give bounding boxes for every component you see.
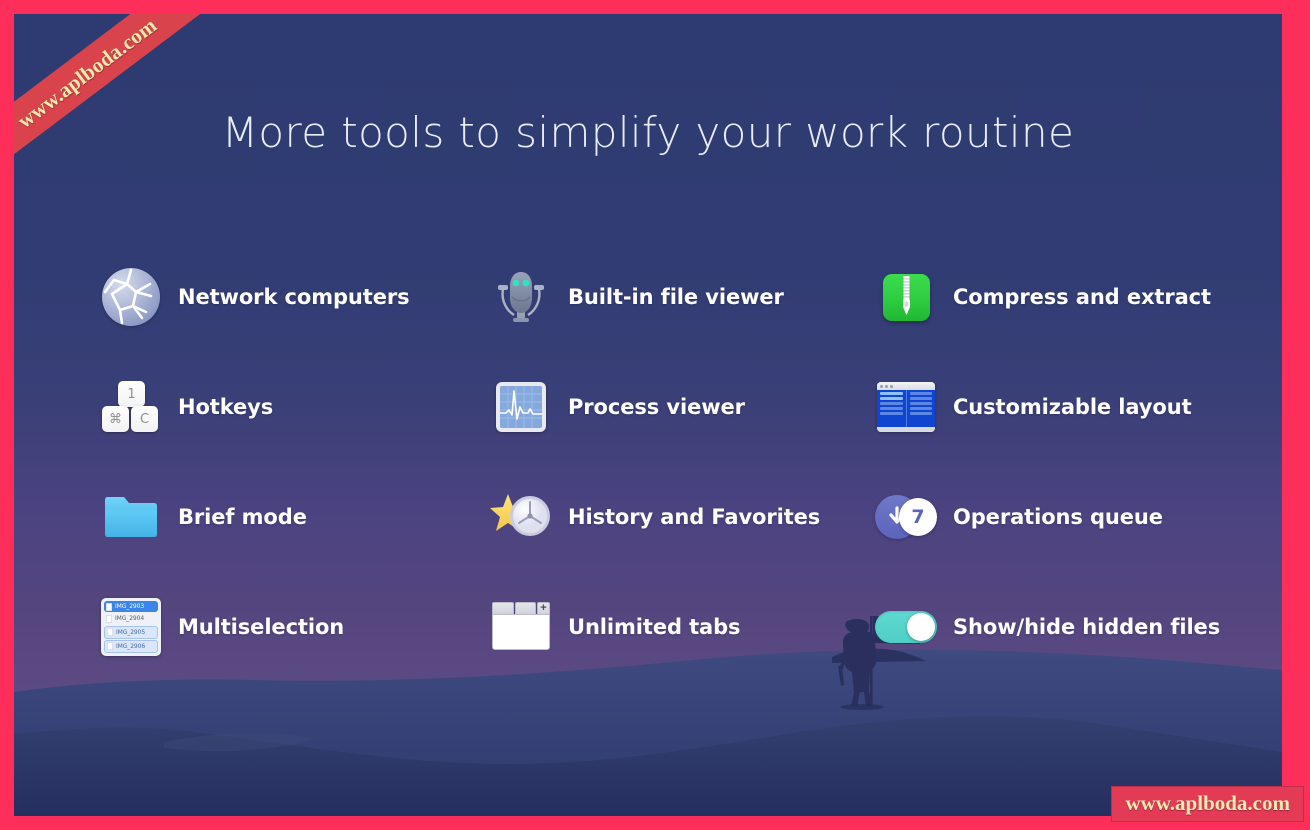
feature-built-in-file-viewer[interactable]: Built-in file viewer [490, 242, 875, 352]
file-row: IMG_2905 [104, 626, 158, 639]
feature-hotkeys[interactable]: 1 ⌘ C Hotkeys [100, 352, 490, 462]
slide-canvas: More tools to simplify your work routine [14, 14, 1282, 816]
feature-history-and-favorites[interactable]: History and Favorites [490, 462, 875, 572]
keyboard-keys-icon: 1 ⌘ C [100, 376, 162, 438]
activity-monitor-icon [490, 376, 552, 438]
feature-label: Brief mode [178, 505, 307, 529]
key-c: C [131, 406, 158, 432]
browser-tabs-icon: + [490, 596, 552, 658]
file-name: IMG_2905 [116, 629, 145, 636]
network-globe-icon [100, 266, 162, 328]
feature-customizable-layout[interactable]: Customizable layout [875, 352, 1260, 462]
download-queue-icon: 7 [875, 486, 937, 548]
file-row: IMG_2903 [104, 601, 158, 612]
pink-frame: More tools to simplify your work routine [0, 0, 1310, 830]
feature-label: Unlimited tabs [568, 615, 740, 639]
queue-count-badge: 7 [899, 498, 937, 536]
feature-label: Multiselection [178, 615, 344, 639]
feature-label: Network computers [178, 285, 410, 309]
file-row: IMG_2906 [104, 640, 158, 653]
feature-label: Compress and extract [953, 285, 1211, 309]
feature-label: History and Favorites [568, 505, 820, 529]
feature-label: Process viewer [568, 395, 745, 419]
page-title: More tools to simplify your work routine [14, 108, 1282, 157]
folder-icon [100, 486, 162, 548]
watermark-text: www.aplboda.com [1125, 791, 1290, 815]
file-name: IMG_2903 [115, 603, 144, 610]
star-clock-icon [490, 486, 552, 548]
file-name: IMG_2906 [116, 643, 145, 650]
bottom-watermark-badge: www.aplboda.com [1111, 786, 1304, 822]
feature-grid: Network computers [100, 242, 1260, 682]
corner-ribbon-watermark: www.aplboda.com [14, 14, 231, 189]
feature-operations-queue[interactable]: 7 Operations queue [875, 462, 1260, 572]
zip-archive-icon [875, 266, 937, 328]
new-tab-plus-icon: + [537, 602, 550, 614]
toggle-switch-icon[interactable] [875, 596, 937, 658]
feature-label: Operations queue [953, 505, 1163, 529]
feature-compress-and-extract[interactable]: Compress and extract [875, 242, 1260, 352]
feature-process-viewer[interactable]: Process viewer [490, 352, 875, 462]
feature-label: Show/hide hidden files [953, 615, 1220, 639]
tab-content-area [492, 614, 550, 650]
feature-unlimited-tabs[interactable]: + Unlimited tabs [490, 572, 875, 682]
feature-show-hide-hidden-files[interactable]: Show/hide hidden files [875, 572, 1260, 682]
file-row: IMG_2904 [104, 613, 158, 624]
tab-2 [515, 602, 537, 614]
file-viewer-goggles-icon [490, 266, 552, 328]
file-list-selection-icon: IMG_2903 IMG_2904 IMG_2905 IMG_2906 [100, 596, 162, 658]
file-manager-window-icon [875, 376, 937, 438]
tab-1 [492, 602, 514, 614]
feature-label: Built-in file viewer [568, 285, 784, 309]
key-1: 1 [118, 381, 145, 407]
feature-network-computers[interactable]: Network computers [100, 242, 490, 352]
file-name: IMG_2904 [115, 615, 144, 622]
key-command: ⌘ [102, 406, 129, 432]
feature-brief-mode[interactable]: Brief mode [100, 462, 490, 572]
feature-multiselection[interactable]: IMG_2903 IMG_2904 IMG_2905 IMG_2906 [100, 572, 490, 682]
feature-label: Customizable layout [953, 395, 1192, 419]
feature-label: Hotkeys [178, 395, 273, 419]
